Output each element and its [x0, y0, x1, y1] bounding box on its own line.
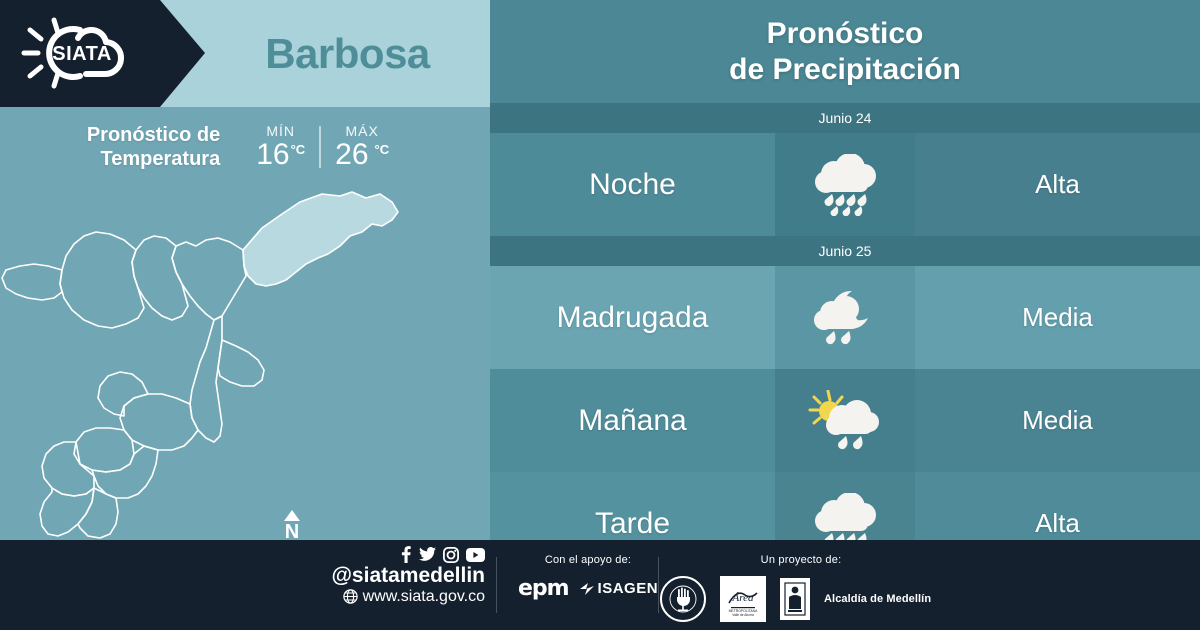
seal-glyph-icon	[668, 584, 698, 614]
svg-text:Valle de Aburrá: Valle de Aburrá	[732, 613, 754, 617]
temperature-min: MÍN 16°C	[242, 123, 319, 171]
north-arrow-icon	[284, 510, 300, 521]
footer-divider-1	[496, 557, 497, 613]
left-panel: SIATA Barbosa Pronóstico de Temperatura …	[0, 0, 490, 540]
website-line[interactable]: www.siata.gov.co	[300, 588, 485, 606]
forecast-period-label: Mañana	[578, 404, 686, 438]
sun-rain-cloud-icon	[806, 390, 884, 452]
project-logos: Área METROPOLITANA Valle de Aburrá Alcal…	[660, 576, 931, 622]
precipitation-panel: Pronóstico de Precipitación Junio 24 Noc…	[490, 0, 1200, 540]
social-handle[interactable]: @siatamedellin	[300, 564, 485, 588]
support-block: Con el apoyo de: epm ISAGEN	[508, 554, 668, 601]
precipitation-title: Pronóstico de Precipitación	[490, 0, 1200, 103]
temperature-max-value-wrap: 26°C	[335, 139, 389, 171]
footer-divider-2	[658, 557, 659, 613]
left-header: SIATA Barbosa	[0, 0, 490, 107]
temperature-block: Pronóstico de Temperatura MÍN 16°C MÁX 2…	[0, 107, 490, 187]
forecast-period-label: Madrugada	[557, 301, 709, 335]
universidad-de-medellin-seal-icon[interactable]	[660, 576, 706, 622]
support-logos: epm ISAGEN	[508, 576, 668, 601]
siata-logo-badge[interactable]: SIATA	[0, 0, 205, 107]
temperature-title-line1: Pronóstico de	[87, 123, 220, 147]
forecast-period-cell: Mañana	[490, 369, 775, 472]
isagen-logo[interactable]: ISAGEN	[579, 580, 659, 597]
city-title: Barbosa	[205, 0, 490, 107]
website-url: www.siata.gov.co	[363, 588, 485, 606]
forecast-icon-cell	[775, 133, 915, 236]
rain-cloud-heavy-icon	[808, 154, 882, 216]
forecast-period-label: Noche	[589, 168, 676, 202]
weather-infographic: SIATA Barbosa Pronóstico de Temperatura …	[0, 0, 1200, 630]
temperature-min-value: 16	[256, 139, 289, 171]
temperature-max-label: MÁX	[345, 123, 378, 139]
temperature-min-value-wrap: 16°C	[256, 139, 305, 171]
forecast-probability-cell: Media	[915, 369, 1200, 472]
temperature-values: MÍN 16°C MÁX 26°C	[242, 123, 403, 171]
project-caption-wrap: Un proyecto de:	[706, 554, 896, 576]
temperature-max-unit: °C	[375, 143, 390, 157]
footer: @siatamedellin www.siata.gov.co Con el a…	[0, 540, 1200, 630]
temperature-max: MÁX 26°C	[321, 123, 403, 171]
forecast-icon-cell	[775, 266, 915, 369]
support-caption: Con el apoyo de:	[508, 554, 668, 566]
facebook-icon[interactable]	[399, 546, 412, 563]
aburra-valley-map-svg	[0, 180, 490, 540]
moon-rain-cloud-icon	[808, 287, 882, 349]
date-label: Junio 24	[819, 110, 872, 126]
area-metropolitana-glyph-icon: Área METROPOLITANA Valle de Aburrá	[723, 579, 763, 619]
forecast-row-madrugada[interactable]: Madrugada Media	[490, 266, 1200, 369]
alcaldia-label: Alcaldía de Medellín	[824, 593, 931, 605]
social-block: @siatamedellin www.siata.gov.co	[300, 546, 485, 606]
forecast-period-label: Tarde	[595, 507, 670, 541]
temperature-min-label: MÍN	[266, 123, 295, 139]
date-band-junio-24: Junio 24	[490, 103, 1200, 133]
twitter-icon[interactable]	[419, 547, 436, 562]
temperature-max-value: 26	[335, 139, 368, 171]
social-icons	[300, 546, 485, 563]
youtube-icon[interactable]	[466, 548, 485, 562]
precipitation-title-line1: Pronóstico	[767, 16, 924, 52]
forecast-period-cell: Madrugada	[490, 266, 775, 369]
area-metropolitana-logo[interactable]: Área METROPOLITANA Valle de Aburrá	[720, 576, 766, 622]
forecast-row-manana[interactable]: Mañana	[490, 369, 1200, 472]
epm-logo[interactable]: epm	[518, 576, 569, 601]
forecast-probability-label: Media	[1022, 405, 1093, 436]
north-arrow-indicator: N	[278, 510, 306, 540]
date-label: Junio 25	[819, 243, 872, 259]
alcaldia-glyph-icon	[783, 581, 807, 617]
forecast-probability-label: Alta	[1035, 508, 1080, 539]
municipality-map[interactable]: N	[0, 180, 490, 540]
forecast-period-cell: Noche	[490, 133, 775, 236]
temperature-min-unit: °C	[291, 143, 306, 157]
sun-cloud-icon: SIATA	[16, 12, 146, 94]
svg-text:SIATA: SIATA	[52, 43, 112, 65]
globe-icon	[343, 589, 358, 604]
svg-text:Área: Área	[732, 592, 754, 604]
forecast-row-noche[interactable]: Noche	[490, 133, 1200, 236]
temperature-title-line2: Temperatura	[87, 147, 220, 171]
forecast-probability-cell: Media	[915, 266, 1200, 369]
alcaldia-shield-icon[interactable]	[780, 578, 810, 620]
forecast-probability-label: Media	[1022, 302, 1093, 333]
instagram-icon[interactable]	[443, 547, 459, 563]
forecast-icon-cell	[775, 369, 915, 472]
project-caption: Un proyecto de:	[706, 554, 896, 566]
precipitation-title-line2: de Precipitación	[729, 52, 961, 88]
forecast-probability-cell: Alta	[915, 133, 1200, 236]
date-band-junio-25: Junio 25	[490, 236, 1200, 266]
isagen-mark-icon	[579, 582, 595, 596]
temperature-title: Pronóstico de Temperatura	[87, 123, 220, 172]
isagen-wordmark: ISAGEN	[598, 580, 659, 597]
north-label: N	[278, 522, 306, 540]
forecast-probability-label: Alta	[1035, 169, 1080, 200]
map-region-barbosa	[243, 192, 398, 286]
